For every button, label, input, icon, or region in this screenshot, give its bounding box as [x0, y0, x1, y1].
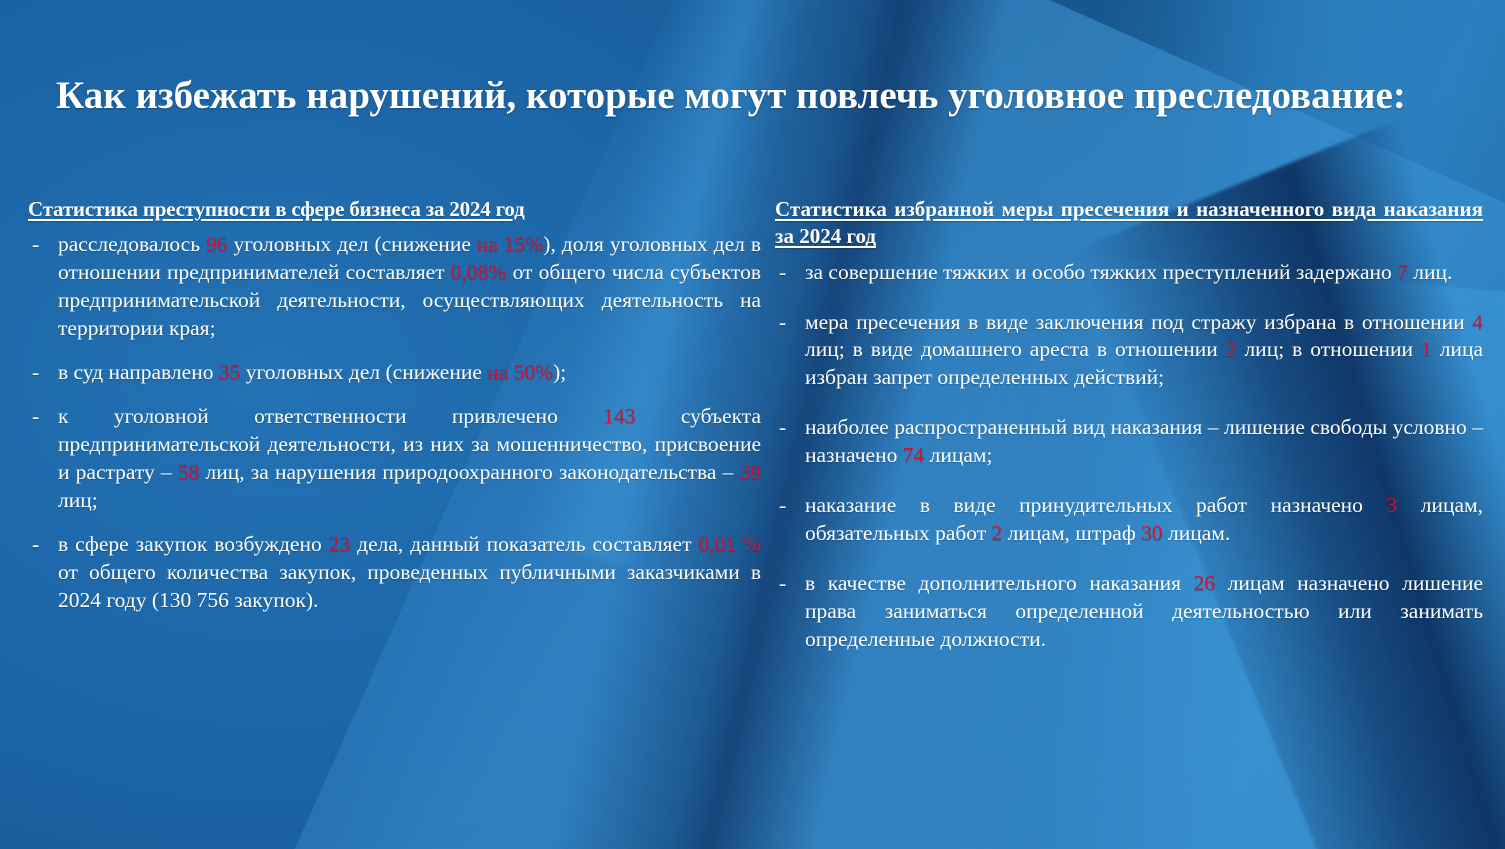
highlighted-number: на 15% [477, 232, 543, 256]
list-item: -к уголовной ответственности привлечено … [28, 403, 761, 515]
bullet-dash-marker: - [779, 570, 786, 598]
highlighted-number: 7 [1397, 260, 1408, 284]
text-run: лиц. [1408, 260, 1453, 284]
bullet-dash-marker: - [779, 414, 786, 442]
bullet-dash-marker: - [32, 531, 39, 559]
text-run: дела, данный показатель составляет [350, 532, 698, 556]
left-column-bullet-list: -расследовалось 96 уголовных дел (снижен… [28, 231, 761, 614]
list-item-text: наиболее распространенный вид наказания … [805, 415, 1483, 467]
highlighted-number: 3 [1386, 493, 1397, 517]
list-item-text: мера пресечения в виде заключения под ст… [805, 310, 1483, 390]
text-run: в суд направлено [58, 360, 219, 384]
highlighted-number: 58 [178, 460, 200, 484]
bullet-dash-marker: - [32, 403, 39, 431]
slide-content: Как избежать нарушений, которые могут по… [0, 0, 1505, 849]
highlighted-number: на 50% [487, 360, 553, 384]
highlighted-number: 0,01 % [698, 532, 761, 556]
text-run: уголовных дел (снижение [240, 360, 487, 384]
list-item-text: в сфере закупок возбуждено 23 дела, данн… [58, 532, 761, 612]
list-item-text: наказание в виде принудительных работ на… [805, 493, 1483, 545]
text-run: наказание в виде принудительных работ на… [805, 493, 1386, 517]
highlighted-number: 26 [1194, 571, 1216, 595]
highlighted-number: 1 [1421, 337, 1432, 361]
text-run: лиц; [58, 488, 98, 512]
left-column: Статистика преступности в сфере бизнеса … [28, 196, 761, 631]
list-item: -мера пресечения в виде заключения под с… [775, 309, 1483, 393]
bullet-dash-marker: - [32, 359, 39, 387]
text-run: от общего количества закупок, проведенны… [58, 560, 761, 612]
text-run: в качестве дополнительного наказания [805, 571, 1194, 595]
text-run: лиц; в отношении [1236, 337, 1421, 361]
list-item: -в сфере закупок возбуждено 23 дела, дан… [28, 531, 761, 615]
list-item: -в суд направлено 35 уголовных дел (сниж… [28, 359, 761, 387]
bullet-dash-marker: - [779, 259, 786, 287]
bullet-dash-marker: - [779, 309, 786, 337]
text-run: за совершение тяжких и особо тяжких прес… [805, 260, 1397, 284]
list-item: -расследовалось 96 уголовных дел (снижен… [28, 231, 761, 343]
right-column: Статистика избранной меры пресечения и н… [775, 196, 1483, 676]
list-item-text: к уголовной ответственности привлечено 1… [58, 404, 761, 512]
list-item-text: расследовалось 96 уголовных дел (снижени… [58, 232, 761, 340]
highlighted-number: 39 [740, 460, 762, 484]
highlighted-number: 35 [219, 360, 241, 384]
text-run: лицам. [1163, 521, 1231, 545]
text-run: уголовных дел (снижение [228, 232, 477, 256]
bullet-dash-marker: - [32, 231, 39, 259]
page-title: Как избежать нарушений, которые могут по… [56, 70, 1451, 121]
highlighted-number: 30 [1141, 521, 1163, 545]
highlighted-number: 23 [329, 532, 351, 556]
presentation-slide: Как избежать нарушений, которые могут по… [0, 0, 1505, 849]
highlighted-number: 74 [903, 443, 925, 467]
left-column-heading: Статистика преступности в сфере бизнеса … [28, 196, 761, 223]
text-run: в сфере закупок возбуждено [58, 532, 329, 556]
list-item-text: в качестве дополнительного наказания 26 … [805, 571, 1483, 651]
text-run: ); [553, 360, 566, 384]
highlighted-number: 0,08% [451, 260, 507, 284]
text-run: к уголовной ответственности привлечено [58, 404, 603, 428]
bullet-dash-marker: - [779, 492, 786, 520]
right-column-heading: Статистика избранной меры пресечения и н… [775, 196, 1483, 251]
text-run: лицам, штраф [1002, 521, 1141, 545]
text-run: лицам; [924, 443, 992, 467]
list-item: -в качестве дополнительного наказания 26… [775, 570, 1483, 654]
text-run: лиц; в виде домашнего ареста в отношении [805, 337, 1226, 361]
highlighted-number: 2 [992, 521, 1003, 545]
highlighted-number: 143 [603, 404, 635, 428]
text-run: лиц, за нарушения природоохранного закон… [199, 460, 739, 484]
highlighted-number: 96 [206, 232, 228, 256]
list-item-text: за совершение тяжких и особо тяжких прес… [805, 260, 1452, 284]
highlighted-number: 2 [1226, 337, 1237, 361]
list-item-text: в суд направлено 35 уголовных дел (сниже… [58, 360, 566, 384]
list-item: -наказание в виде принудительных работ н… [775, 492, 1483, 548]
highlighted-number: 4 [1472, 310, 1483, 334]
two-column-body: Статистика преступности в сфере бизнеса … [0, 196, 1505, 836]
list-item: -наиболее распространенный вид наказания… [775, 414, 1483, 470]
text-run: расследовалось [58, 232, 206, 256]
list-item: -за совершение тяжких и особо тяжких пре… [775, 259, 1483, 287]
text-run: мера пресечения в виде заключения под ст… [805, 310, 1472, 334]
right-column-bullet-list: -за совершение тяжких и особо тяжких пре… [775, 259, 1483, 654]
